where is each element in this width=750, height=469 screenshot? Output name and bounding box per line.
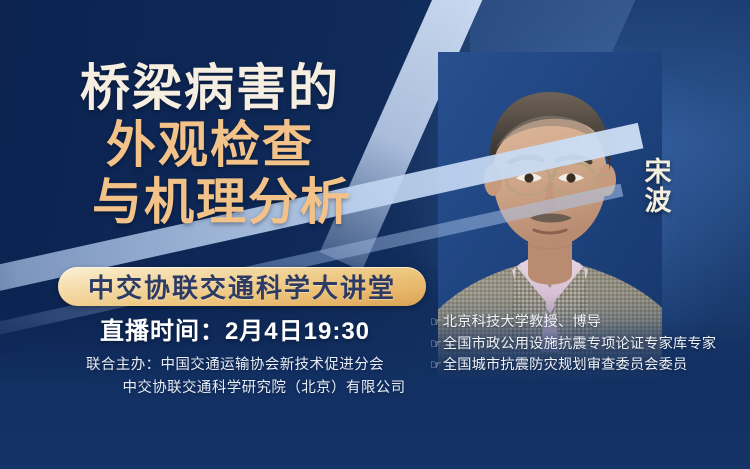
pointing-hand-icon: ☞ xyxy=(430,355,442,375)
credential-item: ☞ 全国市政公用设施抗震专项论证专家库专家 xyxy=(430,334,746,356)
speaker-credentials: ☞ 北京科技大学教授、博导 ☞ 全国市政公用设施抗震专项论证专家库专家 ☞ 全国… xyxy=(430,312,746,377)
credential-text: 北京科技大学教授、博导 xyxy=(443,312,601,334)
webinar-poster: 桥梁病害的 外观检查 与机理分析 中交协联交通科学大讲堂 直播时间：2月4日19… xyxy=(0,0,750,469)
speaker-name-char-1: 宋 xyxy=(638,158,678,187)
credential-item: ☞ 北京科技大学教授、博导 xyxy=(430,312,746,334)
credential-item: ☞ 全国城市抗震防灾规划审查委员会委员 xyxy=(430,355,746,377)
series-banner-label: 中交协联交通科学大讲堂 xyxy=(88,268,396,305)
series-banner: 中交协联交通科学大讲堂 xyxy=(58,267,426,306)
speaker-name: 宋 波 xyxy=(638,158,678,216)
title-line-1: 桥梁病害的 xyxy=(0,62,452,115)
pointing-hand-icon: ☞ xyxy=(430,312,442,332)
speaker-name-char-2: 波 xyxy=(638,187,678,216)
live-time: 直播时间：2月4日19:30 xyxy=(0,311,470,346)
page-title: 桥梁病害的 外观检查 与机理分析 xyxy=(0,62,452,229)
credential-text: 全国市政公用设施抗震专项论证专家库专家 xyxy=(443,334,716,356)
pointing-hand-icon: ☞ xyxy=(430,334,442,354)
title-line-3: 与机理分析 xyxy=(0,176,452,229)
organizer-line-2: 中交协联交通科学研究院（北京）有限公司 xyxy=(0,377,470,400)
credential-text: 全国城市抗震防灾规划审查委员会委员 xyxy=(443,355,688,377)
title-line-2: 外观检查 xyxy=(0,119,452,172)
organizer-line-1: 联合主办：中国交通运输协会新技术促进分会 xyxy=(0,354,470,377)
organizers: 联合主办：中国交通运输协会新技术促进分会 中交协联交通科学研究院（北京）有限公司 xyxy=(0,354,470,401)
